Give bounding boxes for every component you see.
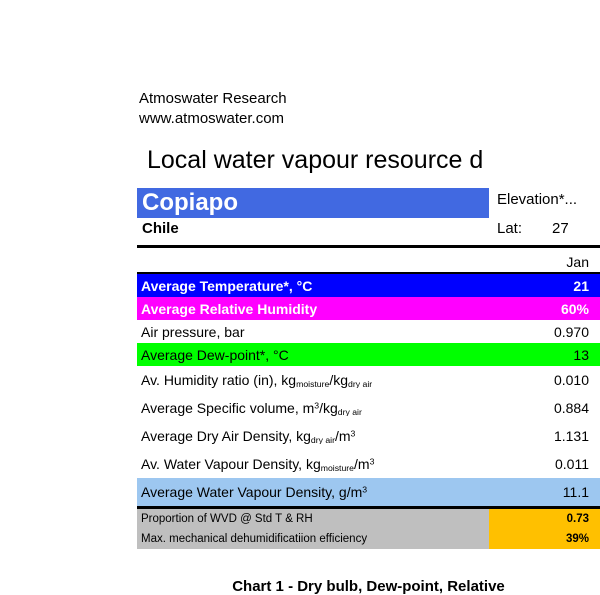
summary-row-label: Max. mechanical dehumidificatiion effici…	[137, 533, 489, 545]
row-value: 0.970	[489, 324, 600, 340]
table-row: Average Specific volume, m3/kgdry air0.8…	[137, 394, 600, 422]
row-value: 60%	[489, 301, 600, 317]
row-value: 0.010	[489, 372, 600, 388]
chart-caption: Chart 1 - Dry bulb, Dew-point, Relative	[137, 578, 600, 595]
summary-row-value: 0.73	[489, 509, 600, 529]
row-label: Av. Water Vapour Density, kgmoisture/m3	[137, 456, 489, 472]
city-name-cell[interactable]: Copiapo	[137, 188, 489, 218]
summary-row: Proportion of WVD @ Std T & RH0.73	[137, 509, 600, 529]
country-name: Chile	[142, 219, 179, 239]
elevation-label: Elevation*...	[497, 189, 600, 211]
row-value: 11.1	[489, 484, 600, 500]
row-label: Average Relative Humidity	[137, 301, 489, 317]
row-label: Air pressure, bar	[137, 324, 489, 340]
row-value: 0.884	[489, 400, 600, 416]
table-body: Average Temperature*, °C21Average Relati…	[137, 274, 600, 506]
row-label: Av. Humidity ratio (in), kgmoisture/kgdr…	[137, 372, 489, 388]
website-url: www.atmoswater.com	[139, 109, 287, 129]
page-title: Local water vapour resource d	[147, 145, 600, 175]
summary-body: Proportion of WVD @ Std T & RH0.73Max. m…	[137, 509, 600, 549]
row-value: 13	[489, 347, 600, 363]
row-label: Average Dew-point*, °C	[137, 347, 489, 363]
summary-row: Max. mechanical dehumidificatiion effici…	[137, 529, 600, 549]
table-row: Average Dew-point*, °C13	[137, 343, 600, 366]
spreadsheet-page: Atmoswater Research www.atmoswater.com L…	[0, 0, 600, 595]
row-label: Average Water Vapour Density, g/m3	[137, 484, 489, 500]
latitude-label: Lat:	[497, 219, 522, 239]
table-row: Av. Humidity ratio (in), kgmoisture/kgdr…	[137, 366, 600, 394]
header-divider	[137, 245, 600, 248]
table-row: Average Water Vapour Density, g/m311.1	[137, 478, 600, 506]
table-row: Average Temperature*, °C21	[137, 274, 600, 297]
row-label: Average Dry Air Density, kgdry air/m3	[137, 428, 489, 444]
table-row: Average Dry Air Density, kgdry air/m31.1…	[137, 422, 600, 450]
summary-row-label: Proportion of WVD @ Std T & RH	[137, 513, 489, 525]
organization-name: Atmoswater Research	[139, 89, 287, 109]
row-value: 21	[489, 278, 600, 294]
table-row: Av. Water Vapour Density, kgmoisture/m30…	[137, 450, 600, 478]
table-row: Air pressure, bar0.970	[137, 320, 600, 343]
branding-block: Atmoswater Research www.atmoswater.com	[139, 89, 287, 129]
row-value: 1.131	[489, 428, 600, 444]
climate-data-table: Jan Average Temperature*, °C21Average Re…	[137, 252, 600, 549]
table-row: Average Relative Humidity60%	[137, 297, 600, 320]
latitude-value: 27	[552, 219, 600, 239]
row-label: Average Temperature*, °C	[137, 278, 489, 294]
month-header-row: Jan	[137, 252, 600, 274]
month-header-jan: Jan	[489, 254, 600, 270]
summary-row-value: 39%	[489, 529, 600, 549]
row-label: Average Specific volume, m3/kgdry air	[137, 400, 489, 416]
row-value: 0.011	[489, 456, 600, 472]
location-header: Copiapo Chile Elevation*... Lat: 27	[137, 188, 600, 242]
